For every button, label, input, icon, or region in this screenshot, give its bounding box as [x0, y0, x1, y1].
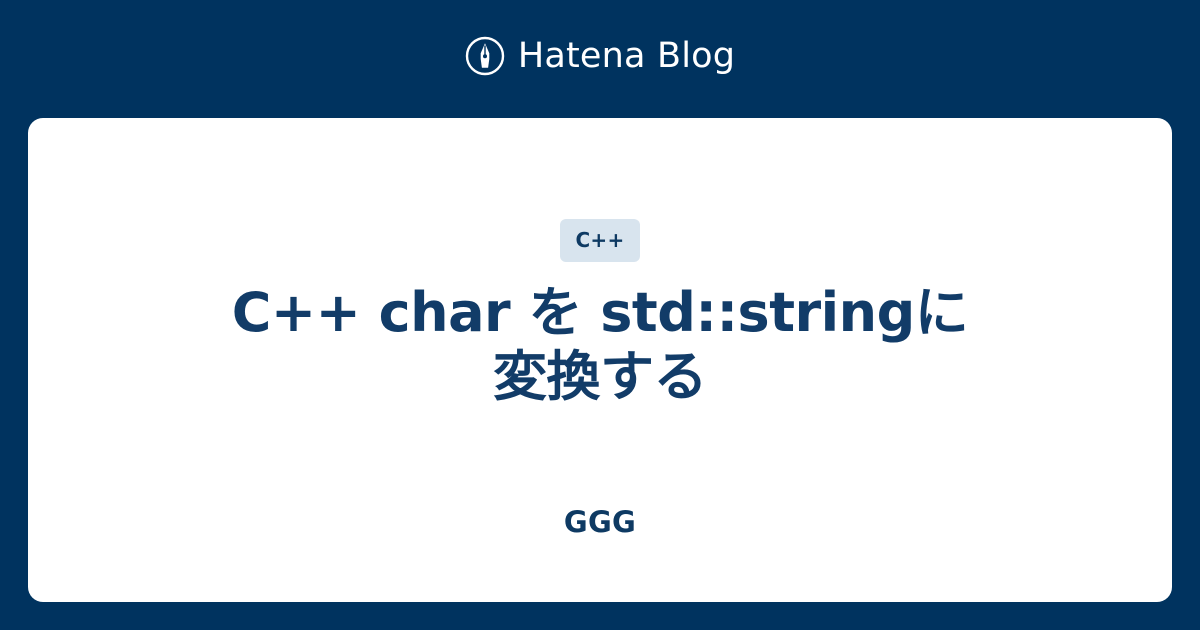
- category-badge[interactable]: C++: [560, 219, 639, 262]
- service-name: Hatena Blog: [518, 39, 735, 74]
- entry-title-line-1: C++ char を std::stringに: [232, 281, 969, 344]
- entry-title-line-2: 変換する: [493, 345, 707, 408]
- entry-card-inner: C++ C++ char を std::stringに変換する GGG: [28, 118, 1172, 602]
- hatena-pen-nib-icon: [465, 36, 505, 76]
- blog-name[interactable]: GGG: [564, 508, 636, 537]
- category-badge-row: C++: [28, 219, 1172, 262]
- entry-card: C++ C++ char を std::stringに変換する GGG: [28, 118, 1172, 602]
- brand-header: Hatena Blog: [0, 0, 1200, 118]
- entry-title: C++ char を std::stringに変換する: [88, 281, 1112, 408]
- blog-name-row: GGG: [28, 508, 1172, 537]
- share-card-page: Hatena Blog C++ C++ char を std::stringに変…: [0, 0, 1200, 630]
